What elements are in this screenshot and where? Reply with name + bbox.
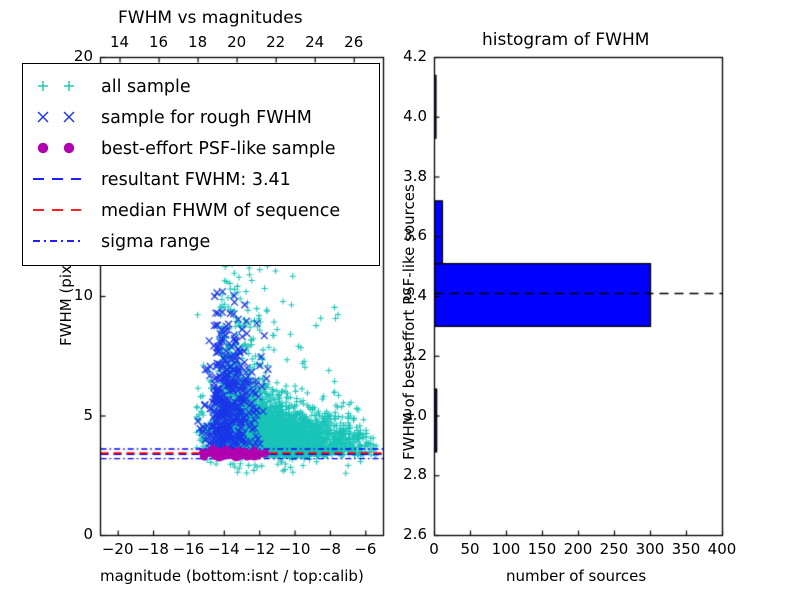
legend-item: resultant FWHM: 3.41	[23, 164, 379, 195]
tick-label: 200	[564, 540, 593, 558]
matplotlib-figure: FWHM vs magnitudes magnitude (bottom:isn…	[0, 0, 800, 600]
histogram-xlabel: number of sources	[506, 567, 646, 585]
legend-item: best-effort PSF-like sample	[23, 133, 379, 164]
tick-label: 2.8	[403, 465, 427, 483]
legend-item-label: median FHWM of sequence	[101, 201, 340, 221]
legend-item-label: sigma range	[101, 232, 210, 252]
tick-label: 5	[83, 406, 93, 424]
histogram-title: histogram of FWHM	[482, 30, 649, 50]
tick-label: −16	[173, 540, 205, 558]
tick-label: 3.4	[403, 286, 427, 304]
tick-label: 4.2	[403, 47, 427, 65]
legend-marker-dashdot-icon	[23, 226, 101, 257]
tick-label: 100	[492, 540, 521, 558]
tick-label: −12	[243, 540, 275, 558]
legend-marker-cross-icon	[23, 102, 101, 133]
legend-item-label: best-effort PSF-like sample	[101, 139, 336, 159]
tick-label: 0	[429, 540, 439, 558]
legend-marker-circle-icon	[23, 133, 101, 164]
tick-label: 16	[149, 33, 168, 51]
tick-label: 350	[672, 540, 701, 558]
tick-label: 20	[227, 33, 246, 51]
tick-label: 2.6	[403, 525, 427, 543]
legend-item: median FHWM of sequence	[23, 195, 379, 226]
tick-label: 3.0	[403, 406, 427, 424]
tick-label: 0	[83, 525, 93, 543]
scatter-ylabel: FWHM (pix)	[57, 259, 75, 346]
tick-label: 300	[636, 540, 665, 558]
legend-item-label: sample for rough FWHM	[101, 108, 312, 128]
tick-label: 14	[110, 33, 129, 51]
tick-label: 400	[708, 540, 737, 558]
tick-label: 150	[528, 540, 557, 558]
scatter-title: FWHM vs magnitudes	[118, 8, 303, 28]
tick-label: −14	[208, 540, 240, 558]
tick-label: −18	[137, 540, 169, 558]
tick-label: 3.2	[403, 346, 427, 364]
tick-label: 250	[600, 540, 629, 558]
legend-item: all sample	[23, 71, 379, 102]
tick-label: 24	[305, 33, 324, 51]
tick-label: −20	[102, 540, 134, 558]
scatter-xlabel: magnitude (bottom:isnt / top:calib)	[100, 567, 364, 585]
legend-item: sample for rough FWHM	[23, 102, 379, 133]
tick-label: 10	[74, 286, 93, 304]
legend-item-label: resultant FWHM: 3.41	[101, 170, 291, 190]
tick-label: 3.8	[403, 167, 427, 185]
tick-label: 3.6	[403, 226, 427, 244]
tick-label: −10	[279, 540, 311, 558]
tick-label: −8	[319, 540, 341, 558]
plot-legend: all samplesample for rough FWHMbest-effo…	[22, 63, 380, 266]
tick-label: 4.0	[403, 107, 427, 125]
tick-label: 18	[188, 33, 207, 51]
legend-item: sigma range	[23, 226, 379, 257]
tick-label: −6	[354, 540, 376, 558]
legend-marker-dashed-icon	[23, 195, 101, 226]
legend-item-label: all sample	[101, 77, 191, 97]
legend-marker-plus-icon	[23, 71, 101, 102]
legend-marker-dashed-icon	[23, 164, 101, 195]
tick-label: 26	[344, 33, 363, 51]
tick-label: 50	[460, 540, 479, 558]
tick-label: 22	[266, 33, 285, 51]
